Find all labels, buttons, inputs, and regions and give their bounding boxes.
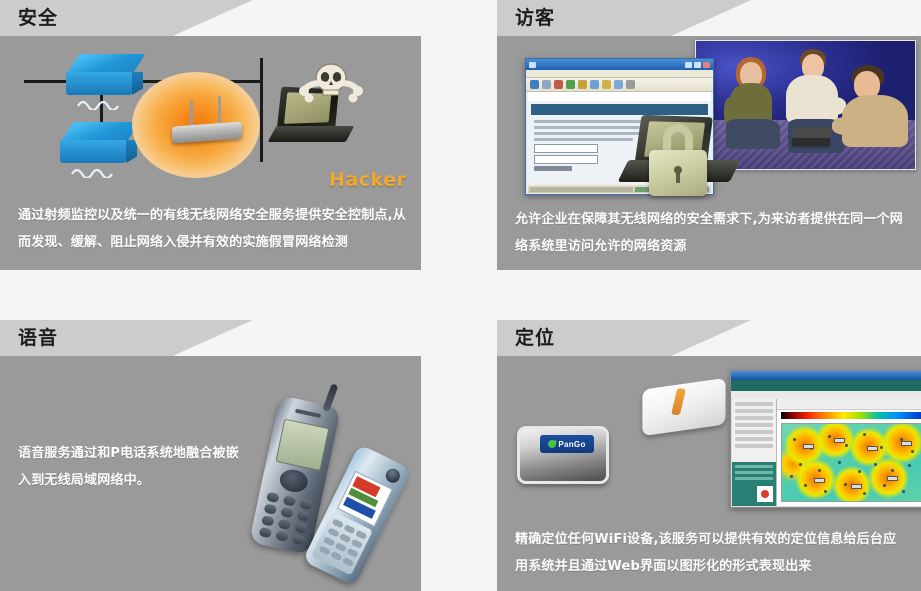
boundary-wire xyxy=(260,58,263,162)
network-switch-icon xyxy=(60,122,142,166)
window-menubar xyxy=(526,70,713,78)
switch-side-face xyxy=(132,72,143,95)
tag-stripe xyxy=(671,388,686,415)
panel-voice[interactable]: 语音 xyxy=(0,320,421,591)
laptop-screen-in-photo xyxy=(792,127,831,138)
panel-voice-header: 语音 xyxy=(0,320,421,356)
header-diagonal-notch xyxy=(497,320,921,356)
panel-location-title: 定位 xyxy=(515,326,555,350)
pango-asset-tag: PanGo xyxy=(517,426,609,484)
panel-security-header: 安全 xyxy=(0,0,421,36)
username-field xyxy=(534,144,598,153)
pango-brand-badge: PanGo xyxy=(540,435,594,453)
sidebar-row xyxy=(735,423,773,427)
wcs-brand-bar xyxy=(731,380,921,391)
phone-navigation-pad xyxy=(278,467,310,494)
sidebar-thumbnail-panel xyxy=(732,462,776,506)
panel-security-body: Hacker 通过射频监控以及统一的有线无线网络安全服务提供安全控制点,从而发现… xyxy=(0,36,421,270)
refresh-icon xyxy=(566,80,575,89)
stop-icon xyxy=(554,80,563,89)
padlock-icon xyxy=(649,124,707,198)
wcs-sidebar xyxy=(732,399,777,506)
phone-speaker xyxy=(295,409,321,418)
panel-voice-caption: 语音服务通过和P电话系统地融合被嵌入到无线局域网络中。 xyxy=(18,440,246,494)
panel-security-caption: 通过射频监控以及统一的有线无线网络安全服务提供安全控制点,从而发现、缓解、阻止网… xyxy=(18,202,409,256)
panel-guest-caption: 允许企业在保障其无线网络的安全需求下,为来访者提供在同一个网络系统里访问允许的网… xyxy=(515,206,909,260)
laptop-in-photo xyxy=(792,137,830,146)
home-icon xyxy=(578,80,587,89)
sidebar-row xyxy=(735,402,773,406)
panel-guest-header: 访客 xyxy=(497,0,921,36)
panel-voice-title: 语音 xyxy=(18,326,58,350)
window-toolbar xyxy=(526,78,713,92)
panel-security[interactable]: 安全 xyxy=(0,0,421,270)
wcs-map-toolbar xyxy=(777,399,921,410)
close-icon xyxy=(703,62,710,68)
switch-arrows-glyph xyxy=(70,162,122,178)
network-switch-icon xyxy=(66,54,148,98)
panel-guest[interactable]: 访客 xyxy=(497,0,921,270)
panel-voice-body: 语音服务通过和P电话系统地融合被嵌入到无线局域网络中。 xyxy=(0,356,421,591)
padlock-keyhole xyxy=(674,166,682,174)
sidebar-row xyxy=(735,416,773,420)
panel-location-header: 定位 xyxy=(497,320,921,356)
header-diagonal-notch xyxy=(0,320,421,356)
wcs-map-stage xyxy=(777,399,921,506)
ap-antenna xyxy=(218,96,221,126)
thumbnail-row xyxy=(735,465,773,468)
sidebar-row xyxy=(735,444,773,448)
window-titlebar xyxy=(731,371,921,380)
thumbnail-row xyxy=(735,477,773,480)
switch-top-face xyxy=(61,122,139,142)
wifi-coverage-heatmap xyxy=(781,423,921,502)
sidebar-row xyxy=(735,430,773,434)
sidebar-row xyxy=(735,437,773,441)
forward-icon xyxy=(542,80,551,89)
panel-guest-body: 允许企业在保障其无线网络的安全需求下,为来访者提供在同一个网络系统里访问允许的网… xyxy=(497,36,921,270)
panel-guest-title: 访客 xyxy=(515,6,555,30)
header-diagonal-notch xyxy=(0,0,421,36)
window-titlebar xyxy=(526,59,713,70)
page-banner xyxy=(531,104,708,115)
ap-antenna xyxy=(190,100,193,126)
header-diagonal-notch xyxy=(497,0,921,36)
panel-location-caption: 精确定位任何WiFi设备,该服务可以提供有效的定位信息给后台应用系统并且通过We… xyxy=(515,526,909,580)
print-icon xyxy=(626,80,635,89)
switch-front-face xyxy=(60,140,126,163)
thumbnail-row xyxy=(735,471,773,474)
pango-brand-label: PanGo xyxy=(558,440,585,449)
phone-antenna xyxy=(322,383,338,412)
switch-top-face xyxy=(67,54,145,74)
panel-location-body: PanGo xyxy=(497,356,921,591)
history-icon xyxy=(614,80,623,89)
phone-camera xyxy=(383,466,402,485)
switch-front-face xyxy=(66,72,132,95)
hacker-label: Hacker xyxy=(329,169,406,191)
password-field xyxy=(534,155,598,164)
phone-screen xyxy=(275,419,329,472)
skull-icon xyxy=(296,60,366,112)
wcs-location-heatmap-window xyxy=(730,370,921,508)
maximize-icon xyxy=(694,62,701,68)
wireless-voice-handsets xyxy=(250,386,420,586)
panel-security-title: 安全 xyxy=(18,6,58,30)
thumbnail-map xyxy=(757,486,773,502)
white-wifi-tag xyxy=(642,378,725,436)
back-icon xyxy=(530,80,539,89)
text-line xyxy=(534,138,633,141)
rssi-color-legend xyxy=(781,412,921,419)
favorites-icon xyxy=(602,80,611,89)
leaf-icon xyxy=(548,439,557,448)
search-icon xyxy=(590,80,599,89)
wireless-intrusion-diagram: Hacker xyxy=(0,36,421,186)
arm xyxy=(832,117,866,135)
panel-location[interactable]: 定位 PanGo xyxy=(497,320,921,591)
laptop-base xyxy=(268,126,355,142)
window-icon xyxy=(529,62,536,68)
person-leaning-man xyxy=(838,65,912,169)
minimize-icon xyxy=(685,62,692,68)
status-segment xyxy=(530,187,633,192)
phone-keypad xyxy=(258,492,313,547)
panel-grid: 安全 xyxy=(0,0,921,591)
switch-arrows-glyph xyxy=(76,94,128,110)
submit-button xyxy=(534,166,572,171)
sidebar-row xyxy=(735,409,773,413)
